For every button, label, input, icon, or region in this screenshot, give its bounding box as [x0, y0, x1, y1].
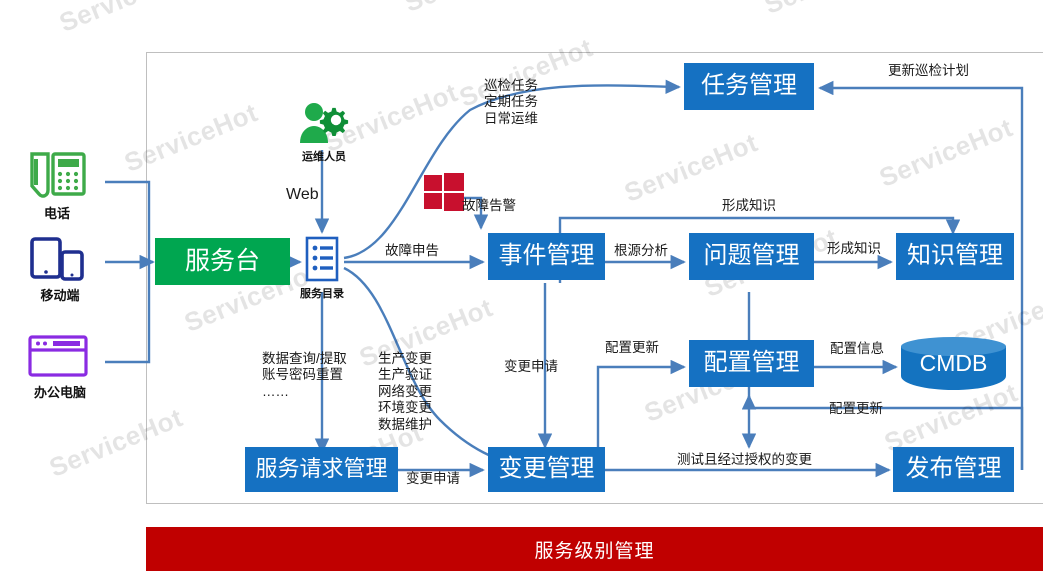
node-release-management-label: 发布管理 — [906, 456, 1002, 482]
node-incident-management-label: 事件管理 — [499, 243, 595, 269]
edge-label-update-inspection-plan: 更新巡检计划 — [888, 63, 969, 79]
node-cmdb[interactable]: CMDB — [901, 337, 1006, 393]
node-service-request-management[interactable]: 服务请求管理 — [245, 447, 398, 492]
edge-label-form-knowledge-mid: 形成知识 — [827, 241, 881, 257]
node-cmdb-label: CMDB — [901, 350, 1006, 377]
edge-label-task-list: 巡检任务 定期任务 日常运维 — [484, 78, 538, 127]
edge-label-fault-alarm: 故障告警 — [462, 198, 516, 214]
phone-icon — [24, 150, 90, 202]
ops-staff-label: 运维人员 — [288, 148, 360, 164]
node-config-management[interactable]: 配置管理 — [689, 340, 814, 387]
edge-label-config-info: 配置信息 — [830, 341, 884, 357]
node-service-desk[interactable]: 服务台 — [155, 238, 290, 285]
edge-label-change-request-bottom: 变更申请 — [406, 471, 460, 487]
node-service-desk-label: 服务台 — [185, 248, 260, 276]
node-problem-management[interactable]: 问题管理 — [689, 233, 814, 280]
edge-label-web: Web — [286, 185, 319, 205]
node-change-management-label: 变更管理 — [499, 456, 595, 482]
windows-icon — [423, 172, 465, 214]
edge-label-request-list: 数据查询/提取 账号密码重置 …… — [262, 351, 347, 400]
node-task-management[interactable]: 任务管理 — [684, 63, 814, 110]
node-release-management[interactable]: 发布管理 — [893, 447, 1014, 492]
node-config-management-label: 配置管理 — [704, 350, 800, 376]
service-catalog-label: 服务目录 — [286, 285, 358, 301]
channel-label-phone: 电话 — [24, 203, 90, 222]
ops-staff-icon — [298, 100, 350, 148]
node-knowledge-management[interactable]: 知识管理 — [896, 233, 1014, 280]
edge-label-change-list: 生产变更 生产验证 网络变更 环境变更 数据维护 — [378, 351, 432, 433]
mobile-icon — [28, 236, 90, 284]
edge-label-root-cause: 根源分析 — [614, 243, 668, 259]
edge-label-form-knowledge-top: 形成知识 — [722, 198, 776, 214]
diagram-canvas: ServiceHot ServiceHot ServiceHot Service… — [0, 0, 1043, 575]
service-catalog-icon[interactable] — [304, 236, 340, 284]
node-change-management[interactable]: 变更管理 — [488, 447, 605, 492]
banner-label: 服务级别管理 — [534, 536, 654, 563]
pc-icon — [26, 334, 92, 380]
node-problem-management-label: 问题管理 — [704, 243, 800, 269]
edge-label-config-update-in: 配置更新 — [605, 340, 659, 356]
node-incident-management[interactable]: 事件管理 — [488, 233, 605, 280]
node-task-management-label: 任务管理 — [701, 73, 797, 99]
edge-label-config-update-back: 配置更新 — [829, 401, 883, 417]
edge-label-authorized-change: 测试且经过授权的变更 — [677, 452, 812, 468]
node-knowledge-management-label: 知识管理 — [907, 243, 1003, 269]
service-level-management-banner: 服务级别管理 — [146, 527, 1043, 571]
channel-label-mobile: 移动端 — [22, 285, 98, 304]
edge-label-fault-report: 故障申告 — [385, 243, 439, 259]
edge-label-change-request-vertical: 变更申请 — [504, 359, 558, 375]
channel-label-pc: 办公电脑 — [16, 382, 104, 401]
node-service-request-management-label: 服务请求管理 — [255, 457, 387, 481]
